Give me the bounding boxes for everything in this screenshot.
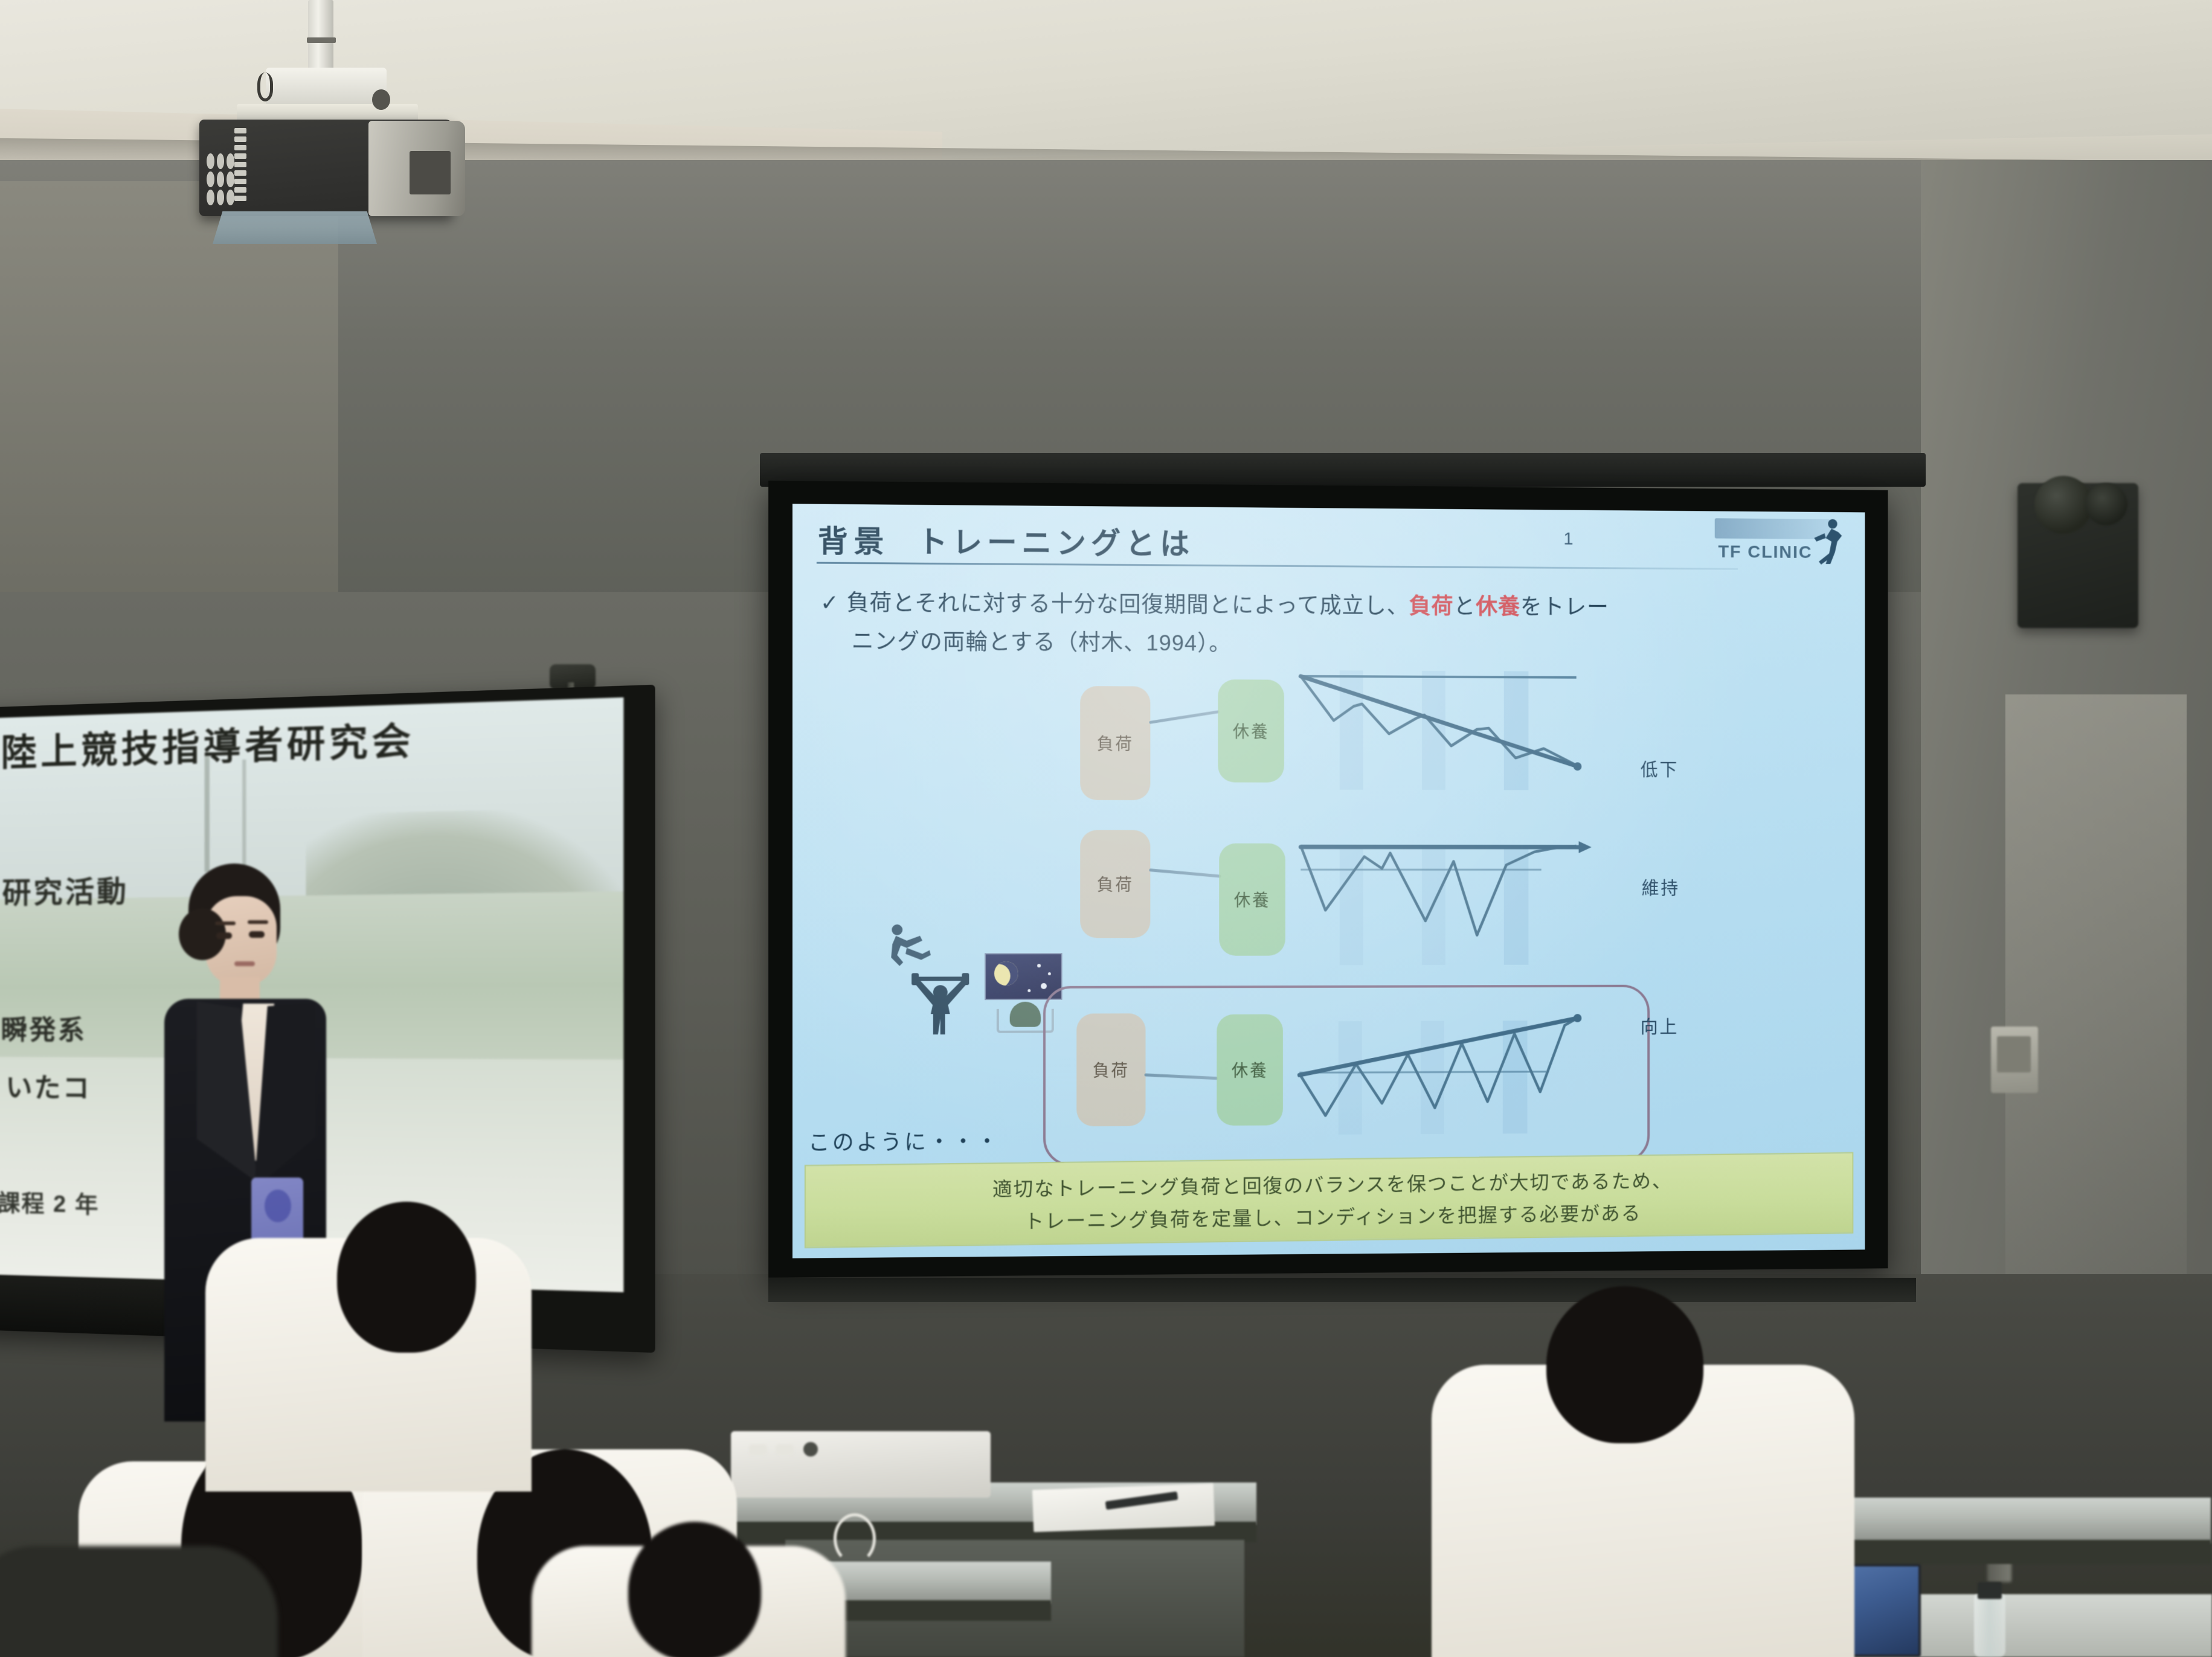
connector-row1	[1149, 710, 1220, 724]
presenter-mouth	[234, 961, 255, 966]
weightlifter-icon	[910, 968, 970, 1038]
water-bottle-cap	[1978, 1582, 2002, 1599]
projection-screen-assembly: 背景トレーニングとは 1 TF CLINIC	[713, 459, 1963, 1473]
projector-unit-dial[interactable]	[803, 1442, 818, 1457]
desk-paper	[1032, 1484, 1215, 1532]
screen-bezel: 背景トレーニングとは 1 TF CLINIC	[768, 481, 1888, 1278]
monitor-slide-line2: 研究活動	[2, 867, 129, 912]
speaker-tweeter-icon	[2085, 483, 2127, 525]
node-load-row2: 負荷	[1080, 830, 1150, 938]
monitor-slide-line5: 課程 2 年	[0, 1184, 99, 1220]
node-rest-row1: 休養	[1218, 679, 1284, 783]
transition-text: このように・・・	[808, 1124, 1000, 1157]
decline-chart	[1301, 670, 1628, 796]
projector-safety-hook	[257, 72, 273, 101]
water-bottle	[1974, 1594, 2005, 1657]
result-label-improve: 向上	[1641, 1012, 1679, 1038]
projector-lens-housing	[213, 211, 377, 244]
connector-row2	[1149, 868, 1221, 877]
coiled-cable	[834, 1513, 876, 1564]
projector-pole-band	[307, 37, 336, 43]
ceiling-projector	[199, 0, 489, 284]
result-label-maintain: 維持	[1642, 873, 1680, 899]
desk-projector-unit	[731, 1431, 991, 1498]
improve-chart	[1299, 996, 1627, 1135]
summary-banner: 適切なトレーニング負荷と回復のバランスを保つことが大切であるため、 トレーニング…	[805, 1152, 1853, 1248]
wall-control-plate-inner[interactable]	[1997, 1036, 2031, 1072]
projector-indicator-leds	[234, 128, 246, 204]
projector-unit-button[interactable]	[749, 1444, 767, 1455]
projector-control-buttons[interactable]	[207, 153, 234, 205]
projector-unit-button-2[interactable]	[776, 1444, 794, 1455]
lecture-room-scene: 陸上競技指導者研究会 研究活動 瞬発系 る いたコ ン評価 課程 2 年 背景ト…	[0, 0, 2212, 1657]
projector-adjust-knob	[372, 89, 390, 110]
hurdler-icon	[883, 920, 934, 972]
result-label-decline: 低下	[1641, 755, 1679, 781]
sleeper-body	[1010, 1002, 1041, 1027]
node-load-row3: 負荷	[1076, 1013, 1145, 1126]
presentation-slide: 背景トレーニングとは 1 TF CLINIC	[793, 504, 1865, 1258]
screen-surface: 背景トレーニングとは 1 TF CLINIC	[793, 504, 1865, 1258]
maintain-chart	[1301, 834, 1628, 966]
projector-vent-grille	[410, 151, 451, 194]
speaker-cone-icon	[2034, 476, 2092, 534]
slide-photo-pole-2	[242, 760, 246, 871]
moon-icon	[994, 961, 1018, 986]
screen-bottom-bar	[768, 1278, 1916, 1302]
projector-mount-pole	[308, 0, 333, 72]
night-sky-icon	[985, 953, 1063, 1000]
node-rest-row3: 休養	[1217, 1014, 1283, 1126]
presenter-badge-emblem	[265, 1190, 291, 1222]
node-load-row1: 負荷	[1080, 686, 1150, 800]
node-rest-row2: 休養	[1219, 844, 1285, 956]
